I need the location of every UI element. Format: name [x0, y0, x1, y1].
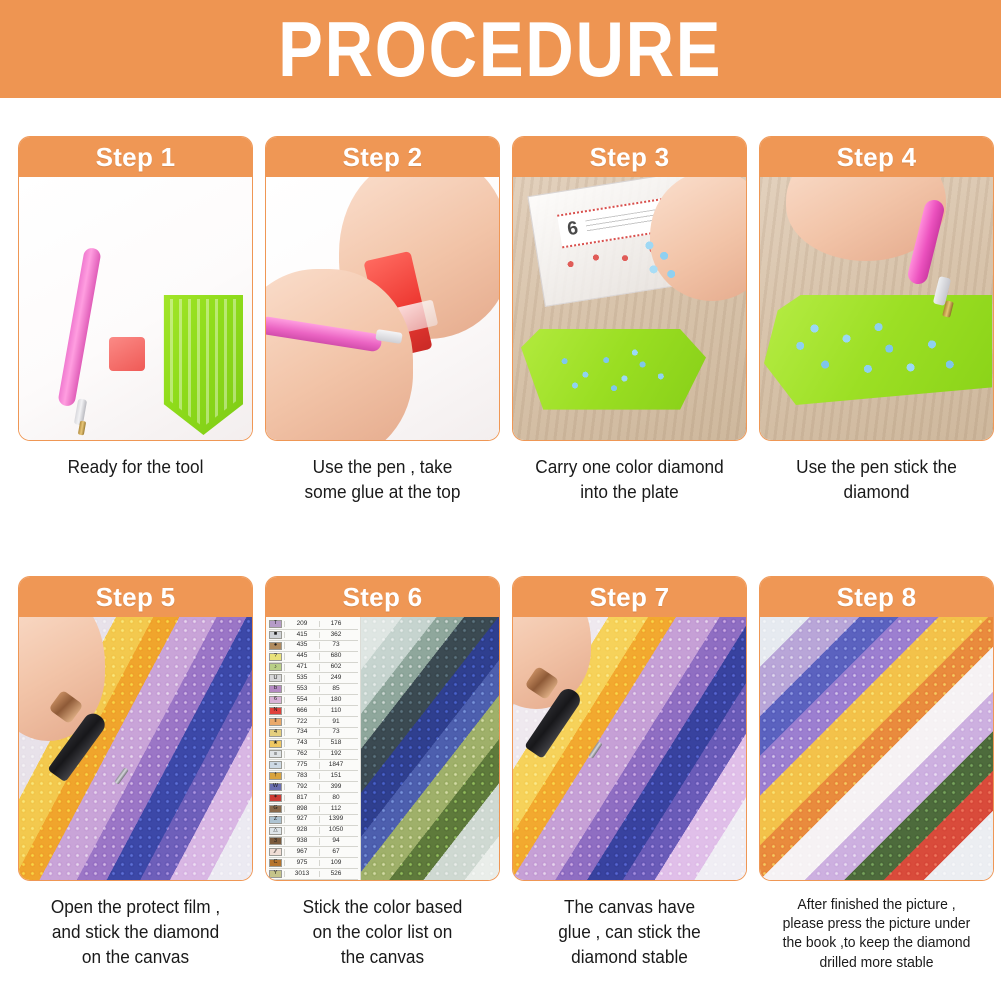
- color-list-row: W792399: [269, 782, 358, 793]
- color-code: 928: [284, 827, 319, 834]
- step-caption-6: Stick the color based on the color list …: [278, 895, 487, 970]
- canvas-area: [361, 617, 499, 880]
- page-banner: PROCEDURE: [0, 0, 1001, 98]
- color-symbol-swatch: ⁄⁄: [269, 848, 282, 856]
- color-symbol-swatch: b: [269, 685, 282, 693]
- step-image-8: [760, 617, 993, 880]
- step-card-2: Step 2: [265, 136, 500, 441]
- color-count: 112: [319, 806, 352, 813]
- color-code: 535: [284, 675, 319, 682]
- step-caption-8: After finished the picture , please pres…: [772, 895, 981, 972]
- color-code: 762: [284, 751, 319, 758]
- color-count: 680: [319, 653, 352, 660]
- color-symbol-swatch: U: [269, 674, 282, 682]
- color-symbol-swatch: Y: [269, 870, 282, 878]
- step-cell-8: Step 8 After finished the picture , plea…: [759, 576, 994, 972]
- step-caption-4: Use the pen stick the diamond: [772, 455, 981, 505]
- color-code: 898: [284, 806, 319, 813]
- color-code: 734: [284, 729, 319, 736]
- color-list-row: C975109: [269, 858, 358, 869]
- pen-metal-tip-icon: [78, 421, 86, 436]
- color-list-row: Y3013526: [269, 869, 358, 880]
- page-title: PROCEDURE: [278, 10, 722, 88]
- color-list-row: T209176: [269, 619, 358, 630]
- step-cell-6: Step 6 T209176■415362●43573?445680♪47160…: [265, 576, 500, 972]
- step-header-3: Step 3: [513, 137, 746, 177]
- color-code: 967: [284, 849, 319, 856]
- step-image-6: T209176■415362●43573?445680♪471602U53524…: [266, 617, 499, 880]
- color-code: 553: [284, 686, 319, 693]
- step-image-1: [19, 177, 252, 440]
- color-symbol-swatch: N: [269, 707, 282, 715]
- step-cell-3: Step 3 6 Carry: [512, 136, 747, 505]
- color-code: 792: [284, 784, 319, 791]
- color-code: 817: [284, 795, 319, 802]
- color-code: 666: [284, 708, 319, 715]
- color-count: 85: [319, 686, 352, 693]
- color-code: 3013: [284, 871, 319, 878]
- steps-row-2: Step 5 Open the protect film , and stick…: [18, 576, 990, 972]
- color-count: 94: [319, 838, 352, 845]
- color-count: 602: [319, 664, 352, 671]
- color-symbol-swatch: W: [269, 783, 282, 791]
- color-symbol-swatch: ‖: [269, 718, 282, 726]
- step-header-2: Step 2: [266, 137, 499, 177]
- color-count: 526: [319, 871, 352, 878]
- step-image-5: [19, 617, 252, 880]
- color-symbol-swatch: C: [269, 859, 282, 867]
- color-code: 554: [284, 697, 319, 704]
- color-count: 73: [319, 729, 352, 736]
- color-count: 80: [319, 795, 352, 802]
- color-count: 91: [319, 719, 352, 726]
- color-code: 445: [284, 653, 319, 660]
- color-symbol-swatch: ✶: [269, 794, 282, 802]
- color-code: 471: [284, 664, 319, 671]
- step-cell-7: Step 7 The canvas have glue , can stick …: [512, 576, 747, 972]
- color-code: 209: [284, 621, 319, 628]
- color-count: 109: [319, 860, 352, 867]
- color-symbol-swatch: ≈: [269, 761, 282, 769]
- blue-diamonds-icon: [549, 345, 679, 399]
- color-count: 399: [319, 784, 352, 791]
- color-list-row: †783151: [269, 771, 358, 782]
- color-symbol-swatch: 6: [269, 696, 282, 704]
- color-symbol-swatch: G: [269, 805, 282, 813]
- pouring-diamonds-icon: [641, 235, 683, 287]
- color-symbol-swatch: ★: [269, 740, 282, 748]
- color-list-row: 473473: [269, 728, 358, 739]
- color-symbol-swatch: ?: [269, 653, 282, 661]
- color-list-row: △9281050: [269, 826, 358, 837]
- step-header-6: Step 6: [266, 577, 499, 617]
- color-list-row: ✶81780: [269, 793, 358, 804]
- step-header-5: Step 5: [19, 577, 252, 617]
- color-symbol-swatch: 4: [269, 729, 282, 737]
- color-list-row: N666110: [269, 706, 358, 717]
- scene-pouring-diamonds: 6: [513, 177, 746, 440]
- scene-hands-with-glue: [266, 177, 499, 440]
- color-code: 975: [284, 860, 319, 867]
- color-count: 249: [319, 675, 352, 682]
- color-list-row: ≡762192: [269, 750, 358, 761]
- color-count: 151: [319, 773, 352, 780]
- step-card-7: Step 7: [512, 576, 747, 881]
- bag-label-number: 6: [566, 218, 580, 241]
- color-count: 1050: [319, 827, 352, 834]
- color-symbol-swatch: ■: [269, 631, 282, 639]
- color-list-sheet: T209176■415362●43573?445680♪471602U53524…: [266, 617, 361, 880]
- scene-tools-on-white: [19, 177, 252, 440]
- step-cell-2: Step 2 Use the pen , take some glue at t…: [265, 136, 500, 505]
- color-list-row: ?445680: [269, 652, 358, 663]
- color-symbol-swatch: ●: [269, 642, 282, 650]
- color-code: 775: [284, 762, 319, 769]
- color-code: 743: [284, 740, 319, 747]
- color-code: 938: [284, 838, 319, 845]
- step-cell-4: Step 4 Use the pen stick the diamond: [759, 136, 994, 505]
- procedure-infographic: PROCEDURE Step 1 Ready for the to: [0, 0, 1001, 1001]
- step-image-3: 6: [513, 177, 746, 440]
- step-cell-5: Step 5 Open the protect film , and stick…: [18, 576, 253, 972]
- finished-diamond-painting-icon: [760, 617, 993, 880]
- color-symbol-swatch: Z: [269, 816, 282, 824]
- color-symbol-swatch: †: [269, 772, 282, 780]
- step-header-4: Step 4: [760, 137, 993, 177]
- step-card-3: Step 3 6: [512, 136, 747, 441]
- step-card-1: Step 1: [18, 136, 253, 441]
- color-count: 518: [319, 740, 352, 747]
- step-header-1: Step 1: [19, 137, 252, 177]
- color-count: 192: [319, 751, 352, 758]
- step-header-7: Step 7: [513, 577, 746, 617]
- color-count: 1399: [319, 816, 352, 823]
- color-list-row: Z9271399: [269, 815, 358, 826]
- blue-diamonds-icon: [786, 317, 964, 389]
- step-card-8: Step 8: [759, 576, 994, 881]
- step-card-4: Step 4: [759, 136, 994, 441]
- color-count: 1847: [319, 762, 352, 769]
- color-count: 180: [319, 697, 352, 704]
- step-caption-5: Open the protect film , and stick the di…: [31, 895, 240, 970]
- color-symbol-swatch: △: [269, 827, 282, 835]
- color-code: 722: [284, 719, 319, 726]
- color-code: 415: [284, 632, 319, 639]
- step-image-4: [760, 177, 993, 440]
- step-caption-7: The canvas have glue , can stick the dia…: [525, 895, 734, 970]
- color-list-row: ⁄⁄96767: [269, 847, 358, 858]
- scene-mosaic-canvas-7: [513, 617, 746, 880]
- color-code: 783: [284, 773, 319, 780]
- scene-mosaic-canvas-5: [19, 617, 252, 880]
- scene-color-list-and-canvas: T209176■415362●43573?445680♪471602U53524…: [266, 617, 499, 880]
- color-list-row: U535249: [269, 673, 358, 684]
- color-list-row: b55385: [269, 684, 358, 695]
- step-card-6: Step 6 T209176■415362●43573?445680♪47160…: [265, 576, 500, 881]
- scene-pen-picks-diamond: [760, 177, 993, 440]
- color-list-row: ♪471602: [269, 663, 358, 674]
- step-cell-1: Step 1 Ready for the tool: [18, 136, 253, 505]
- color-symbol-swatch: T: [269, 620, 282, 628]
- color-list-row: ‖72291: [269, 717, 358, 728]
- color-list-row: ★743518: [269, 739, 358, 750]
- step-caption-1: Ready for the tool: [31, 455, 240, 480]
- step-caption-3: Carry one color diamond into the plate: [525, 455, 734, 505]
- color-code: 435: [284, 642, 319, 649]
- step-image-7: [513, 617, 746, 880]
- step-card-5: Step 5: [18, 576, 253, 881]
- color-count: 110: [319, 708, 352, 715]
- scene-finished-mosaic: [760, 617, 993, 880]
- color-list-row: ●43573: [269, 641, 358, 652]
- color-symbol-swatch: ≡: [269, 750, 282, 758]
- diamond-mosaic-icon: [361, 617, 499, 880]
- step-header-8: Step 8: [760, 577, 993, 617]
- red-glue-square-icon: [109, 337, 145, 371]
- color-code: 927: [284, 816, 319, 823]
- pink-pen-icon: [57, 247, 102, 408]
- steps-row-1: Step 1 Ready for the tool Step 2: [18, 136, 990, 505]
- color-count: 176: [319, 621, 352, 628]
- color-list-row: G898112: [269, 804, 358, 815]
- color-symbol-swatch: ♪: [269, 663, 282, 671]
- color-count: 73: [319, 642, 352, 649]
- color-list-row: ■415362: [269, 630, 358, 641]
- color-symbol-swatch: 3: [269, 837, 282, 845]
- color-list-row: ≈7751847: [269, 760, 358, 771]
- color-count: 362: [319, 632, 352, 639]
- step-image-2: [266, 177, 499, 440]
- color-list-row: 393894: [269, 837, 358, 848]
- step-caption-2: Use the pen , take some glue at the top: [278, 455, 487, 505]
- color-count: 67: [319, 849, 352, 856]
- color-list-row: 6554180: [269, 695, 358, 706]
